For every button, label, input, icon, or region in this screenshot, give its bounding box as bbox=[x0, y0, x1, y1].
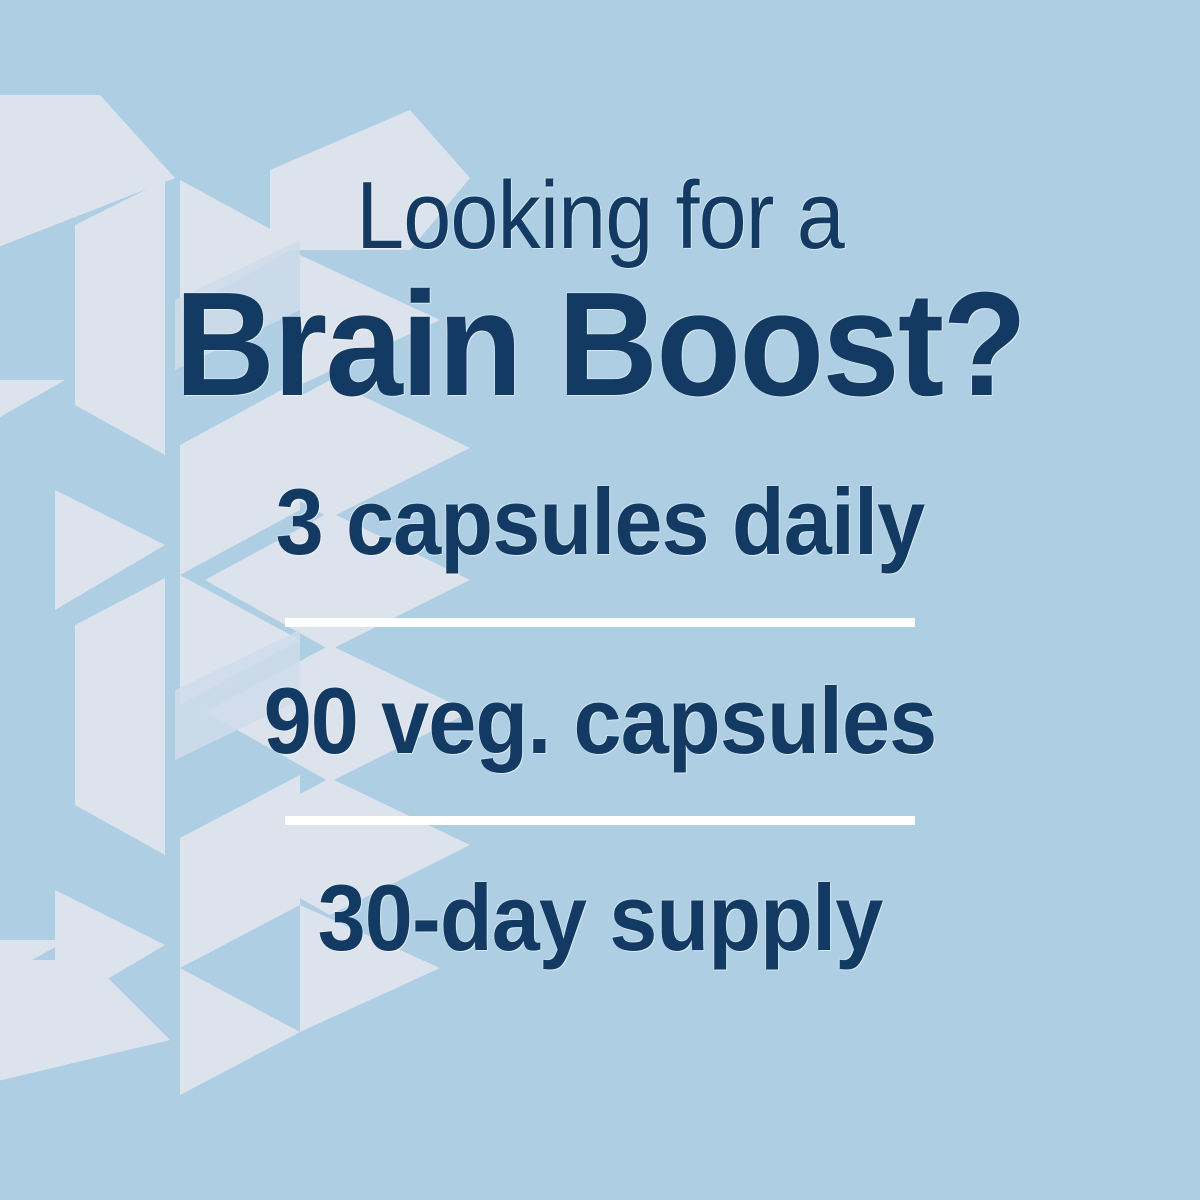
headline-line-2: Brain Boost? bbox=[125, 270, 1074, 421]
fact-capsule-count: 90 veg. capsules bbox=[135, 674, 1064, 768]
headline-block: Looking for a Brain Boost? bbox=[95, 168, 1105, 421]
divider-after-dosage bbox=[285, 618, 915, 627]
fact-dosage: 3 capsules daily bbox=[135, 475, 1064, 569]
divider-after-count bbox=[285, 816, 915, 825]
fact-supply-duration: 30-day supply bbox=[135, 871, 1064, 965]
headline-line-1: Looking for a bbox=[146, 168, 1055, 264]
product-poster: Looking for a Brain Boost? 3 capsules da… bbox=[0, 0, 1200, 1200]
poster-content: Looking for a Brain Boost? 3 capsules da… bbox=[0, 0, 1200, 1200]
product-facts-list: 3 capsules daily 90 veg. capsules 30-day… bbox=[95, 475, 1105, 965]
